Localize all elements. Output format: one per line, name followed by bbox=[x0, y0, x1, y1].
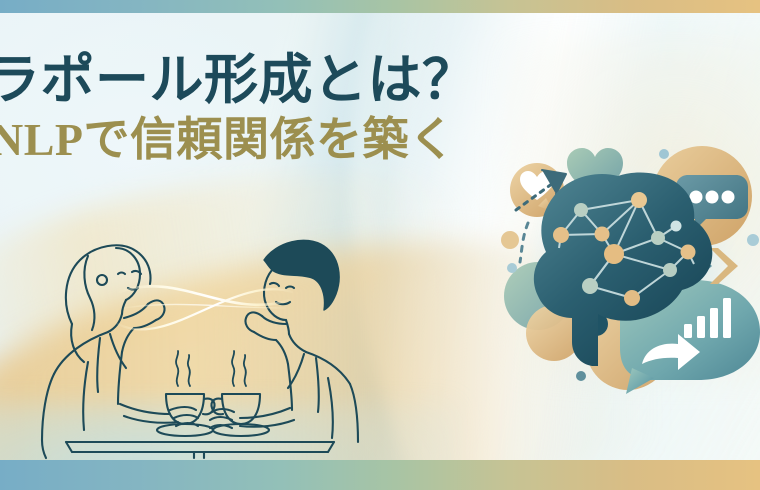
steam-right bbox=[232, 351, 246, 386]
people-illustration bbox=[28, 208, 358, 458]
small-teal-dot-c bbox=[659, 149, 669, 159]
top-gradient-bar bbox=[0, 0, 760, 13]
bottom-gradient-bar bbox=[0, 460, 760, 490]
headline-block: ラポール形成とは？ NLPで信頼関係を築く bbox=[0, 52, 526, 166]
steam-left bbox=[176, 351, 190, 386]
coffee-cup-right bbox=[211, 394, 269, 436]
small-teal-dot-b bbox=[747, 234, 759, 246]
small-teal-dot-a bbox=[507, 263, 517, 273]
banner-root: ラポール形成とは？ NLPで信頼関係を築く bbox=[0, 0, 760, 490]
page-subtitle: NLPで信頼関係を築く bbox=[0, 115, 526, 166]
brain-illustration bbox=[498, 128, 760, 394]
woman-figure bbox=[42, 245, 198, 458]
man-figure bbox=[210, 240, 358, 442]
small-teal-dot-d bbox=[576, 371, 586, 381]
small-gold-dot-b bbox=[501, 231, 519, 249]
page-title: ラポール形成とは？ bbox=[0, 52, 526, 109]
table bbox=[66, 442, 334, 458]
